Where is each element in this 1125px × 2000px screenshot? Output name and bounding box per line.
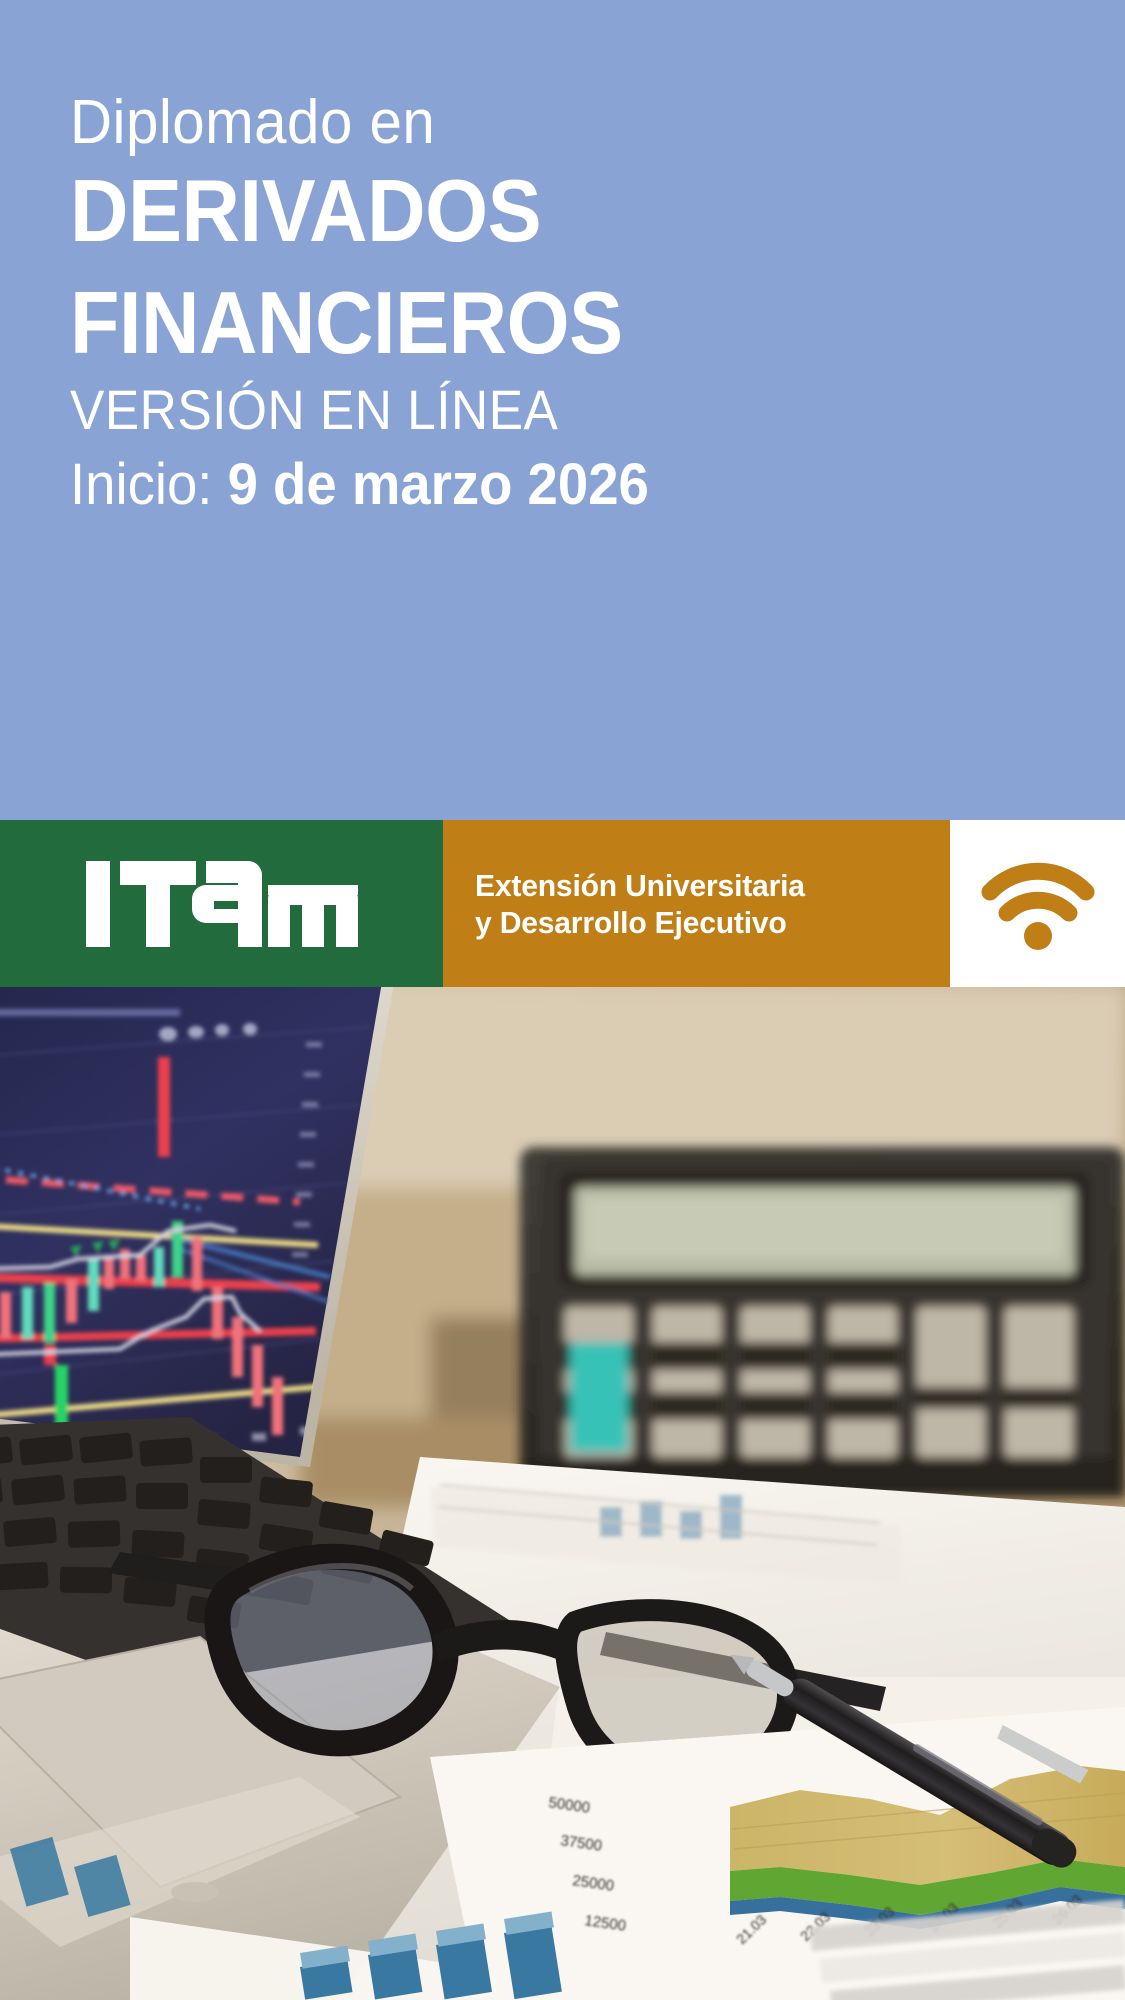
- hero-eyebrow: Diplomado en: [70, 88, 1010, 158]
- poster-root: Diplomado en DERIVADOS FINANCIEROS VERSI…: [0, 0, 1125, 2000]
- hero-title-line-1: DERIVADOS: [70, 166, 990, 256]
- department-line-1: Extensión Universitaria: [475, 867, 805, 904]
- hero-start-date-line: Inicio: 9 de marzo 2026: [70, 452, 1010, 518]
- department-text: Extensión Universitaria y Desarrollo Eje…: [443, 867, 805, 941]
- online-panel: [950, 820, 1125, 987]
- brand-band: Extensión Universitaria y Desarrollo Eje…: [0, 820, 1125, 987]
- start-label: Inicio:: [70, 452, 212, 517]
- department-panel: Extensión Universitaria y Desarrollo Eje…: [443, 820, 950, 987]
- hero-subtitle: VERSIÓN EN LÍNEA: [70, 380, 990, 440]
- hero-photo: 50000 37500 25000 12500 21.03 22.03 23.0…: [0, 987, 1125, 2000]
- hero-title-line-2: FINANCIEROS: [70, 278, 990, 368]
- department-line-2: y Desarrollo Ejecutivo: [475, 904, 805, 941]
- hero-section: Diplomado en DERIVADOS FINANCIEROS VERSI…: [0, 0, 1125, 820]
- logo-panel: [0, 820, 443, 987]
- start-date: 9 de marzo 2026: [228, 452, 649, 517]
- itam-logo-icon: [86, 861, 358, 947]
- hero-text-block: Diplomado en DERIVADOS FINANCIEROS VERSI…: [70, 88, 1070, 518]
- wifi-icon: [978, 856, 1098, 952]
